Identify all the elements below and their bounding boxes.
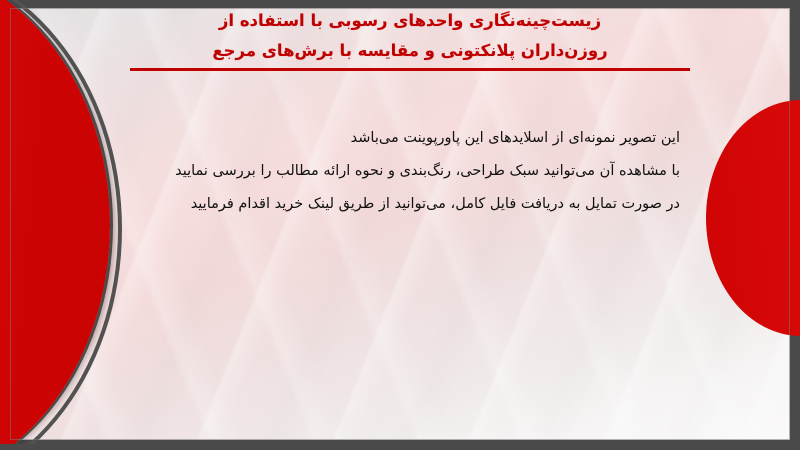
body-line-2: با مشاهده آن می‌توانید سبک طراحی، رنگ‌بن… [100,155,680,188]
slide-body-text: این تصویر نمونه‌ای از اسلایدهای این پاور… [100,122,680,221]
presentation-slide: زیست‌چینه‌نگاری واحدهای رسوبی با استفاده… [0,0,800,450]
slide-title-line-1: زیست‌چینه‌نگاری واحدهای رسوبی با استفاده… [130,6,690,36]
slide-title-line-2: روزن‌داران پلانکتونی و مقایسه با برش‌های… [130,36,690,66]
title-underline-rule [130,68,690,71]
slide-title: زیست‌چینه‌نگاری واحدهای رسوبی با استفاده… [130,6,690,71]
panel-sheen-overlay-secondary [10,8,790,440]
slide-content-panel [10,8,790,440]
panel-sheen-overlay [10,8,790,440]
body-line-1: این تصویر نمونه‌ای از اسلایدهای این پاور… [100,122,680,155]
body-line-3: در صورت تمایل به دریافت فایل کامل، می‌تو… [100,188,680,221]
slide-bottom-frame-edge [0,444,800,450]
